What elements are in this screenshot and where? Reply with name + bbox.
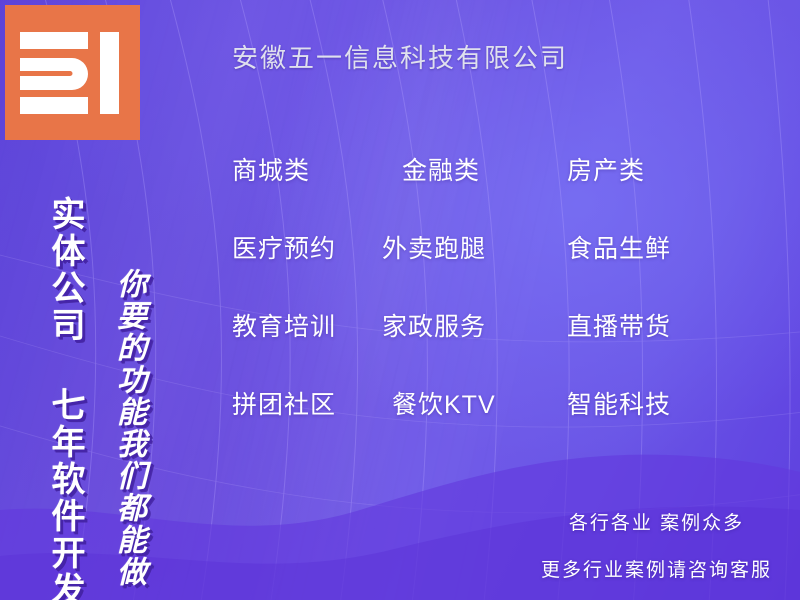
footer-block: 各行各业 案例众多 更多行业案例请咨询客服 [541, 508, 772, 582]
category-item[interactable]: 金融类 [382, 130, 557, 208]
vertical-slogan-right: 你要的功能我们都能做 [106, 268, 150, 588]
footer-line-1: 各行各业 案例众多 [541, 508, 772, 535]
category-item[interactable]: 直播带货 [557, 286, 712, 364]
promo-banner: 安徽五一信息科技有限公司 商城类 金融类 房产类 医疗预约 外卖跑腿 食品生鲜 … [0, 0, 800, 600]
category-item[interactable]: 家政服务 [382, 286, 557, 364]
company-name-title: 安徽五一信息科技有限公司 [232, 38, 568, 75]
category-item[interactable]: 外卖跑腿 [382, 208, 557, 286]
51-logo-icon [20, 32, 125, 114]
category-item[interactable]: 医疗预约 [232, 208, 382, 286]
category-item[interactable]: 智能科技 [557, 364, 712, 442]
category-item[interactable]: 房产类 [557, 130, 712, 208]
category-item[interactable]: 拼团社区 [232, 364, 382, 442]
service-category-grid: 商城类 金融类 房产类 医疗预约 外卖跑腿 食品生鲜 教育培训 家政服务 直播带… [232, 130, 712, 442]
category-item[interactable]: 食品生鲜 [557, 208, 712, 286]
vertical-slogan-left: 实体公司 七年软件开发经验 [41, 196, 90, 600]
category-item[interactable]: 餐饮KTV [382, 364, 557, 442]
category-item[interactable]: 教育培训 [232, 286, 382, 364]
category-item[interactable]: 商城类 [232, 130, 382, 208]
footer-line-2: 更多行业案例请咨询客服 [541, 555, 772, 582]
company-logo [5, 5, 140, 140]
